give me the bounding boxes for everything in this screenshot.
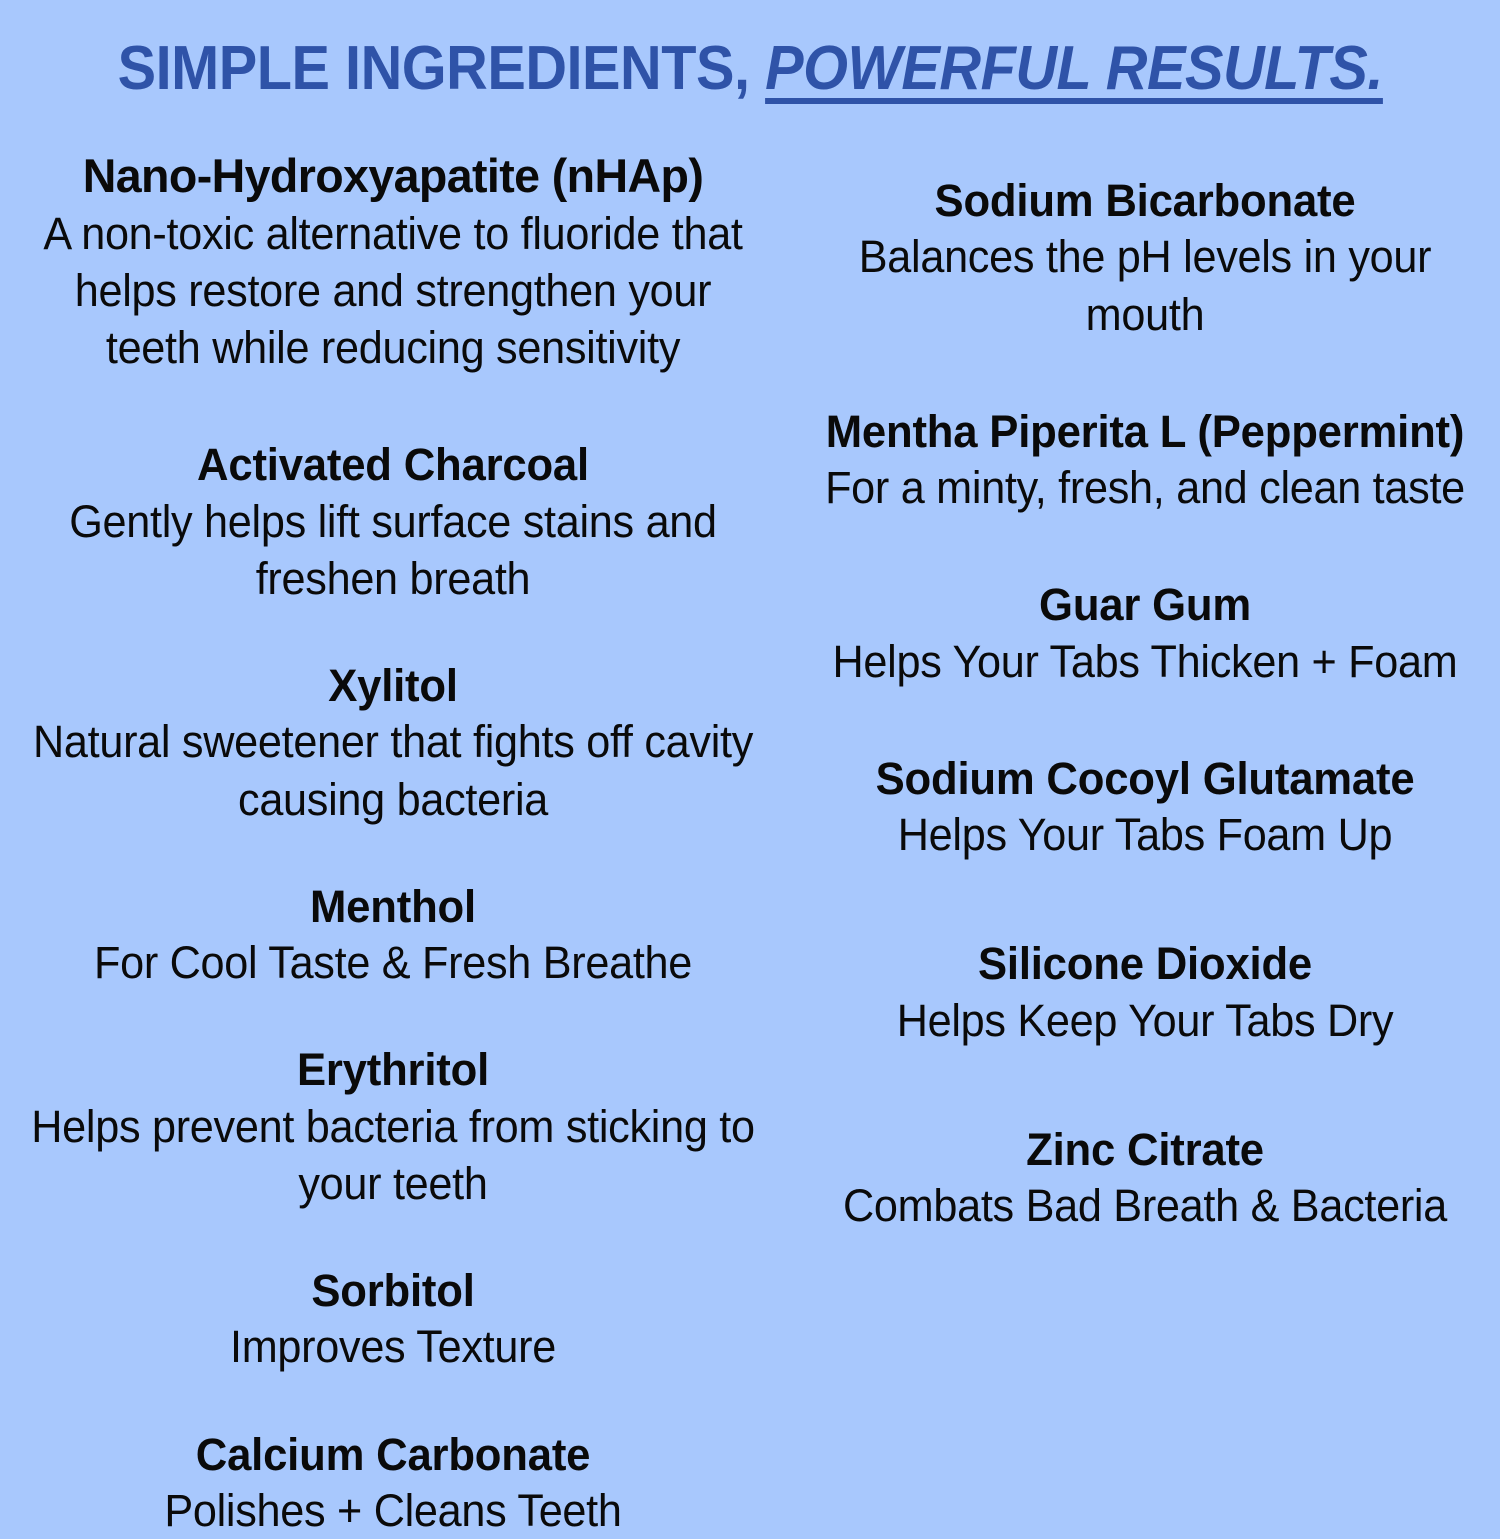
ingredient-description: Helps Your Tabs Thicken + Foam (820, 633, 1471, 690)
page-title: SIMPLE INGREDIENTS, POWERFUL RESULTS. (0, 38, 1500, 100)
ingredient-name: Nano-Hydroxyapatite (nHAp) (14, 148, 772, 205)
ingredient-description: Natural sweetener that fights off cavity… (25, 713, 760, 827)
ingredient-description: Gently helps lift surface stains and fre… (25, 493, 760, 607)
ingredient-description: A non-toxic alternative to fluoride that… (25, 205, 760, 376)
page-title-plain: SIMPLE INGREDIENTS, (117, 34, 749, 103)
ingredient-column-right: Sodium Bicarbonate Balances the pH level… (790, 148, 1500, 1235)
ingredient-description: Balances the pH levels in your mouth (820, 228, 1471, 342)
ingredient-item: Sodium Cocoyl Glutamate Helps Your Tabs … (806, 752, 1484, 864)
ingredient-item: Zinc Citrate Combats Bad Breath & Bacter… (806, 1123, 1484, 1235)
ingredient-description: Polishes + Cleans Teeth (25, 1482, 760, 1539)
ingredient-item: Menthol For Cool Taste & Fresh Breathe (10, 880, 776, 992)
ingredient-name: Zinc Citrate (816, 1123, 1474, 1177)
ingredient-item: Erythritol Helps prevent bacteria from s… (10, 1043, 776, 1212)
ingredient-name: Menthol (21, 880, 764, 934)
ingredient-description: Combats Bad Breath & Bacteria (820, 1177, 1471, 1234)
ingredient-description: For a minty, fresh, and clean taste (820, 459, 1471, 516)
ingredient-name: Guar Gum (816, 578, 1474, 632)
ingredient-item: Silicone Dioxide Helps Keep Your Tabs Dr… (806, 937, 1484, 1049)
ingredient-name: Activated Charcoal (21, 438, 764, 492)
ingredient-name: Mentha Piperita L (Peppermint) (816, 405, 1474, 459)
ingredient-name: Xylitol (21, 659, 764, 713)
ingredient-item: Nano-Hydroxyapatite (nHAp) A non-toxic a… (10, 148, 776, 376)
ingredient-description: Improves Texture (25, 1318, 760, 1375)
ingredient-name: Silicone Dioxide (816, 937, 1474, 991)
ingredient-description: Helps Your Tabs Foam Up (820, 806, 1471, 863)
ingredient-item: Calcium Carbonate Polishes + Cleans Teet… (10, 1428, 776, 1539)
page-title-text: SIMPLE INGREDIENTS, POWERFUL RESULTS. (117, 38, 1382, 100)
ingredient-name: Sorbitol (21, 1264, 764, 1318)
ingredient-item: Sodium Bicarbonate Balances the pH level… (806, 174, 1484, 343)
ingredient-name: Sodium Cocoyl Glutamate (816, 752, 1474, 806)
ingredient-columns: Nano-Hydroxyapatite (nHAp) A non-toxic a… (0, 148, 1500, 1500)
page-title-emphasis: POWERFUL RESULTS. (765, 34, 1383, 103)
ingredient-name: Erythritol (21, 1043, 764, 1097)
ingredient-description: For Cool Taste & Fresh Breathe (25, 934, 760, 991)
ingredient-column-left: Nano-Hydroxyapatite (nHAp) A non-toxic a… (0, 148, 790, 1539)
ingredient-name: Calcium Carbonate (21, 1428, 764, 1482)
ingredient-item: Sorbitol Improves Texture (10, 1264, 776, 1376)
ingredients-infographic: SIMPLE INGREDIENTS, POWERFUL RESULTS. Na… (0, 0, 1500, 1500)
ingredient-item: Mentha Piperita L (Peppermint) For a min… (806, 405, 1484, 517)
ingredient-item: Guar Gum Helps Your Tabs Thicken + Foam (806, 578, 1484, 690)
ingredient-name: Sodium Bicarbonate (816, 174, 1474, 228)
ingredient-item: Activated Charcoal Gently helps lift sur… (10, 438, 776, 607)
ingredient-item: Xylitol Natural sweetener that fights of… (10, 659, 776, 828)
ingredient-description: Helps Keep Your Tabs Dry (820, 992, 1471, 1049)
ingredient-description: Helps prevent bacteria from sticking to … (25, 1098, 760, 1212)
